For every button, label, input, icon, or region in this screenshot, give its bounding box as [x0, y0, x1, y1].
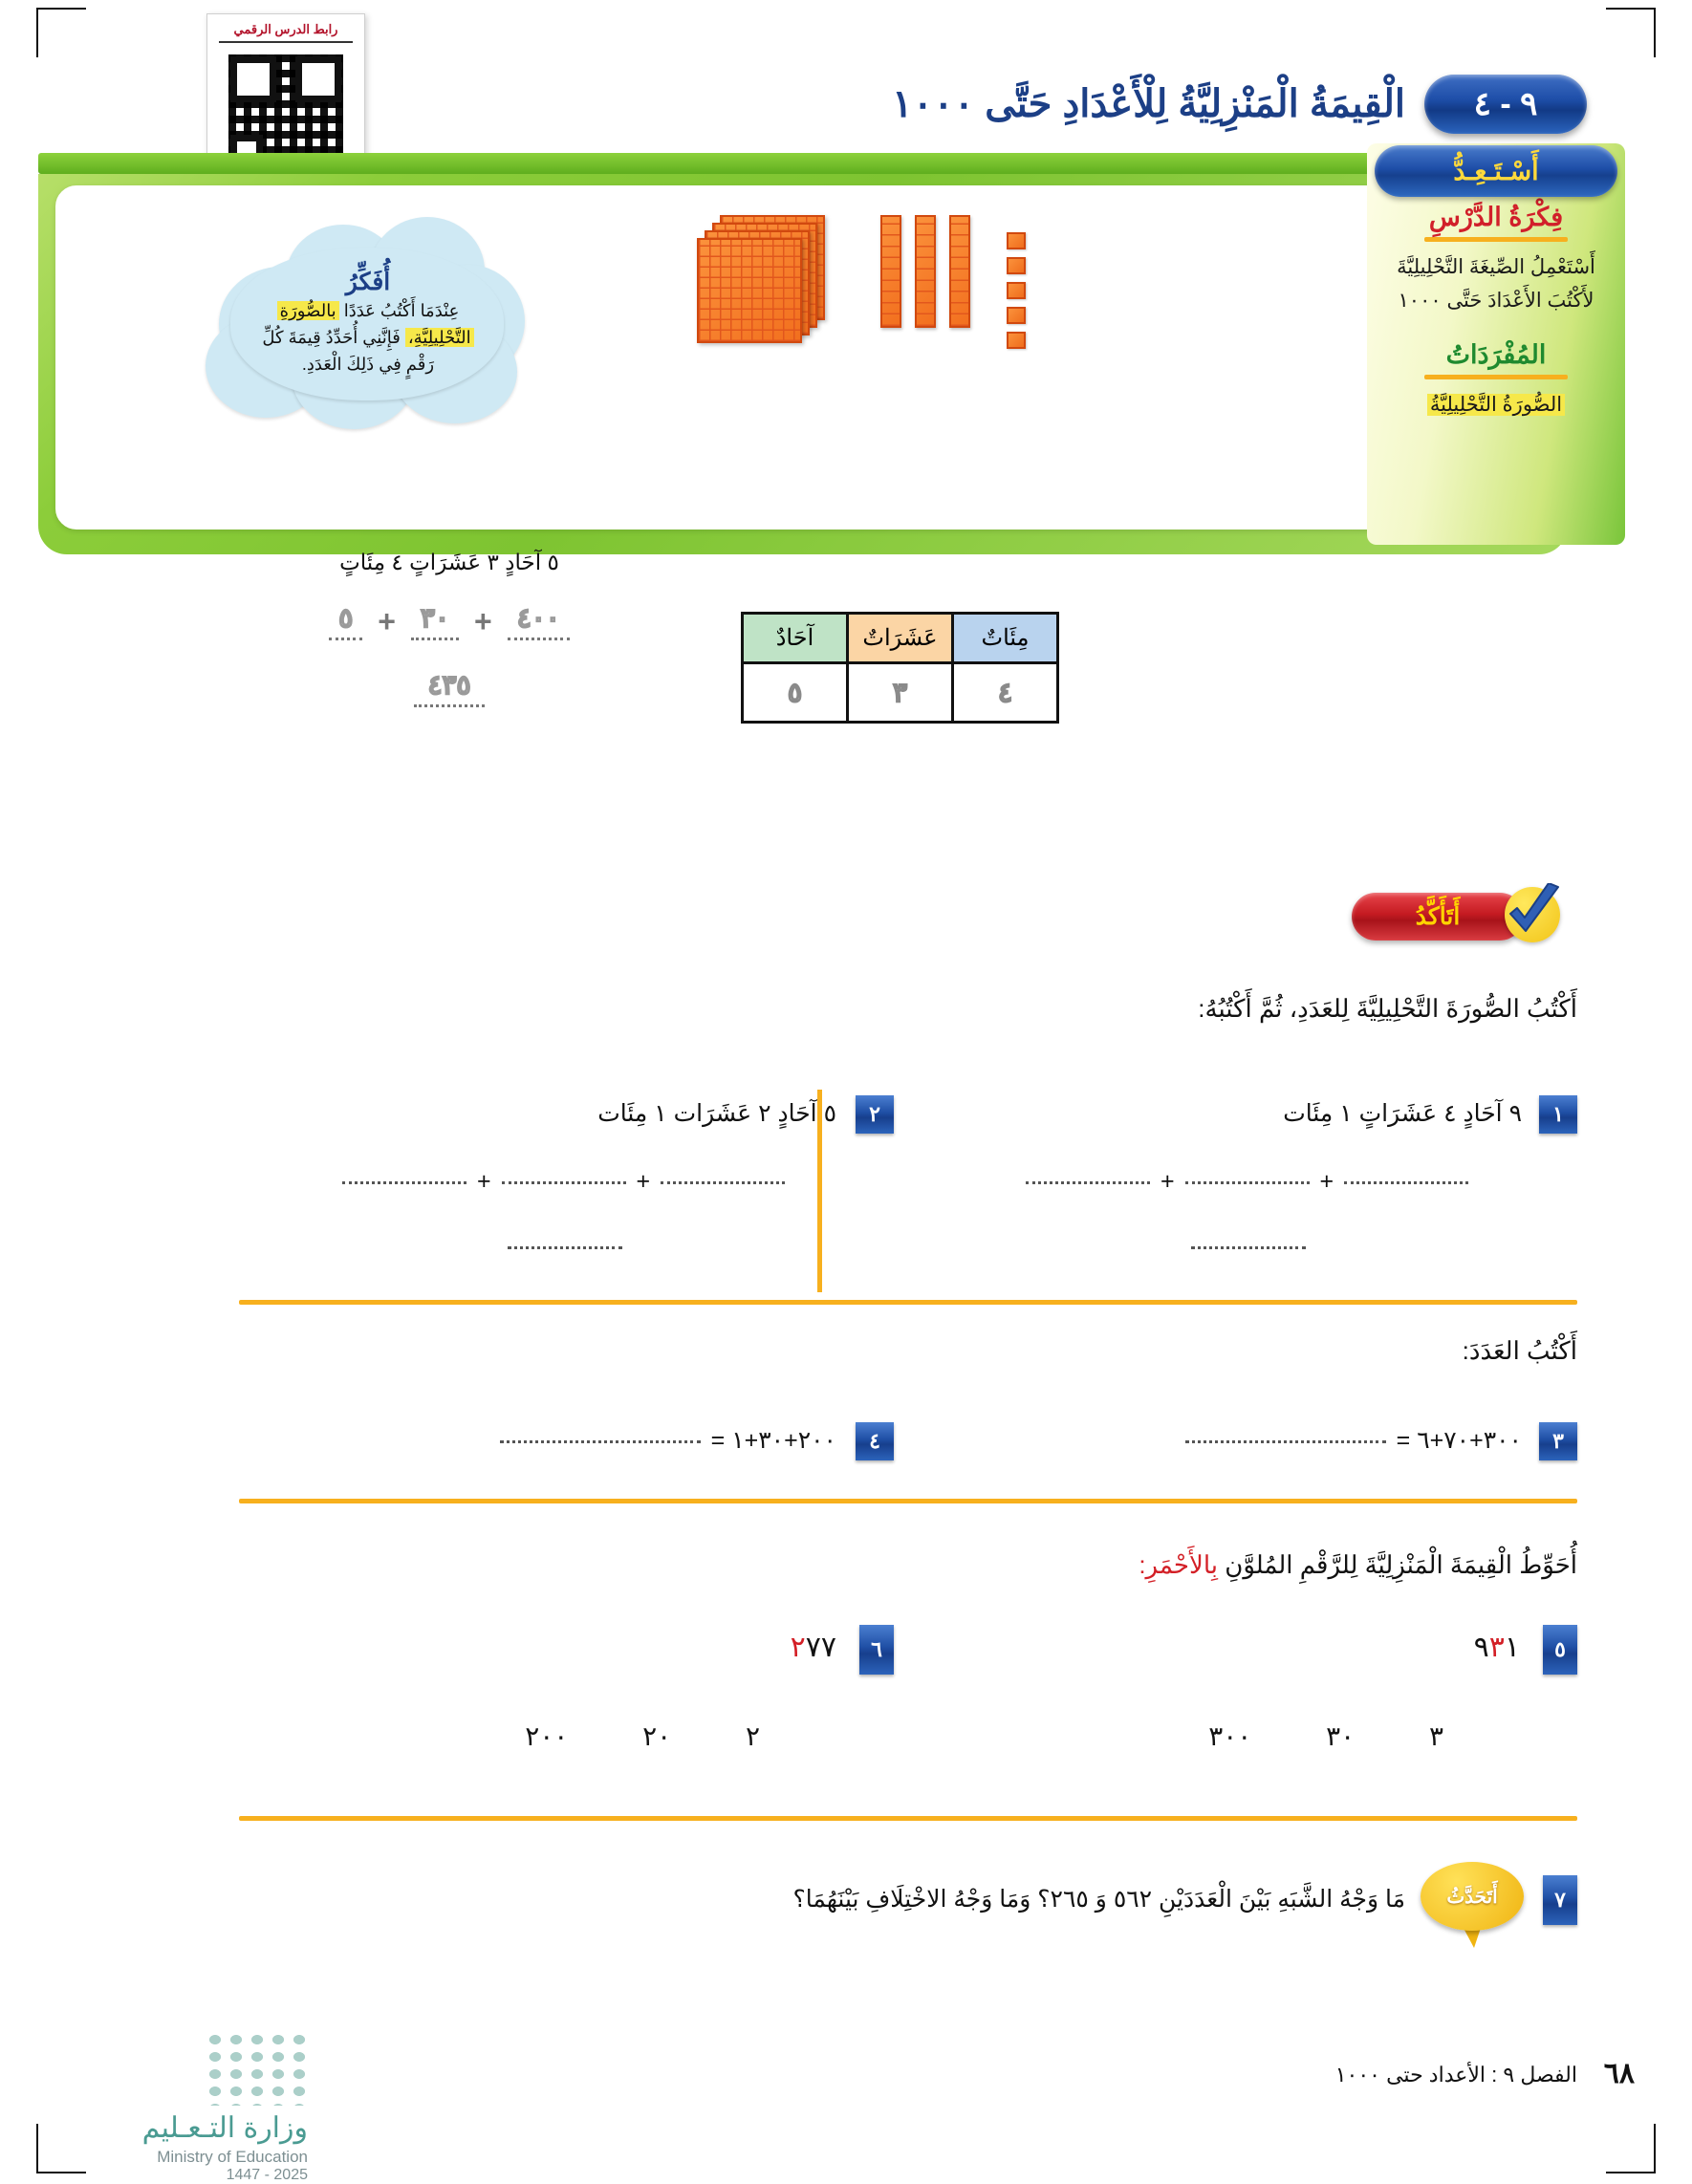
blank-field[interactable]	[342, 1181, 466, 1184]
cloud-line2-b: فَإِنَّنِي أُحَدِّدُ قِيمَةَ كُلِّ	[262, 328, 404, 347]
plus-sign: +	[474, 604, 492, 639]
blank-field[interactable]	[508, 1246, 622, 1249]
talk-bubble-label: أَتَحَدَّثُ	[1421, 1862, 1524, 1931]
item-5-option-2[interactable]: ٣٠	[1326, 1721, 1355, 1751]
item-number-1: ١	[1539, 1095, 1577, 1134]
blank-field[interactable]	[1185, 1181, 1310, 1184]
item-number-6: ٦	[859, 1625, 894, 1675]
vocabulary-term: الصُّورَةُ التَّحْلِيلِيَّةُ	[1427, 394, 1565, 416]
crop-mark-tr-v	[1654, 8, 1656, 57]
tens-rod	[880, 215, 901, 328]
hundreds-flat	[697, 238, 802, 343]
ones-unit	[1007, 257, 1026, 274]
item-1-answer-blank[interactable]	[1187, 1233, 1310, 1261]
header-hundreds: مِئَاتٌ	[953, 614, 1058, 663]
example-answer: ٤٣٥	[414, 669, 484, 707]
verify-badge-label: أَتَأَكَّدُ	[1352, 893, 1524, 941]
item-number-5: ٥	[1543, 1625, 1577, 1675]
item-number-4: ٤	[856, 1422, 894, 1460]
item-6-option-3[interactable]: ٢٠٠	[525, 1721, 568, 1751]
section-divider	[239, 1300, 1577, 1305]
header-ones: آحَادٌ	[743, 614, 848, 663]
section-divider	[239, 1499, 1577, 1503]
vocabulary-term-wrap: الصُّورَةُ التَّحْلِيلِيَّةُ	[1380, 389, 1612, 422]
prepare-sidebar: فِكْرَةُ الدَّرْسِ أَسْتَعْمِلُ الصِّيغَ…	[1367, 143, 1625, 545]
ministry-years: 2025 - 1447	[59, 2167, 308, 2184]
ministry-name-ar: وزارة التـعـليم	[59, 2111, 308, 2145]
think-cloud-body: عِنْدَمَا أَكْتُبُ عَدَدًا بالصُّورَةِ ا…	[262, 298, 473, 378]
item-6-digit-red: ٢	[791, 1632, 806, 1663]
column-divider	[817, 1090, 822, 1292]
crop-mark-br-h	[1606, 2172, 1656, 2173]
instruction-3-text: أُحَوِّطُ الْقِيمَةَ الْمَنْزِلِيَّةَ لِ…	[1218, 1550, 1577, 1579]
blank-field[interactable]	[1185, 1440, 1386, 1443]
lesson-idea-text: أَسْتَعْمِلُ الصِّيغَةَ التَّحْلِيلِيَّة…	[1380, 251, 1612, 317]
example-place-words: ٥ آحَادٍ ٣ عَشَرَاتٍ ٤ مِئَاتٍ	[206, 550, 693, 575]
item-5-digit-pre: ٩	[1474, 1632, 1489, 1663]
item-number-7: ٧	[1543, 1875, 1577, 1925]
item-2-blanks[interactable]: + +	[338, 1168, 789, 1196]
table-row: ٤ ٣ ٥	[743, 663, 1058, 723]
crop-mark-tl-h	[36, 8, 86, 10]
example-sum-hundreds: ٤٠٠	[508, 602, 570, 640]
example-sum-ones: ٥	[329, 602, 362, 640]
lesson-idea-heading: فِكْرَةُ الدَّرْسِ	[1380, 203, 1612, 232]
item-6-number: ٢٧٧	[791, 1631, 836, 1664]
page-title: الْقِيمَةُ الْمَنْزِلِيَّةُ لِلْأَعْدَاد…	[679, 73, 1405, 136]
cloud-line2-highlight: التَّحْلِيلِيَّةِ،	[405, 328, 474, 347]
qr-card-label: رابط الدرس الرقمي	[234, 22, 338, 37]
cloud-line1-a: عِنْدَمَا أَكْتُبُ عَدَدًا	[339, 301, 460, 320]
blank-field[interactable]	[1191, 1246, 1306, 1249]
checkmark-icon	[1503, 883, 1566, 942]
talk-bubble: أَتَحَدَّثُ	[1421, 1862, 1524, 1944]
verify-badge: أَتَأَكَّدُ	[1350, 887, 1570, 946]
item-5-option-3[interactable]: ٣٠٠	[1208, 1721, 1251, 1751]
item-6-option-1[interactable]: ٢	[746, 1721, 760, 1751]
chapter-label: الفصل ٩ : الأعداد حتى ١٠٠٠	[1335, 2063, 1577, 2087]
item-1-text: ٩ آحَادٍ ٤ عَشَرَاتٍ ١ مِئَات	[1283, 1099, 1522, 1128]
crop-mark-tl-v	[36, 8, 38, 57]
ministry-logo: وزارة التـعـليم Ministry of Education 20…	[59, 2031, 308, 2184]
item-4-expression: ٢٠٠+٣٠+١	[731, 1427, 836, 1454]
lesson-number-badge: ٩ - ٤	[1424, 75, 1587, 134]
example-expanded-sum: ٤٠٠ + ٣٠ + ٥	[206, 602, 693, 640]
vocabulary-heading: المُفْرَدَاتُ	[1380, 340, 1612, 370]
instruction-write-expanded: أَكْتُبُ الصُّورَةَ التَّحْلِيلِيَّةَ لِ…	[143, 994, 1577, 1024]
plus-sign: +	[378, 604, 396, 639]
value-tens: ٣	[848, 663, 953, 723]
ones-unit	[1007, 332, 1026, 349]
item-6-option-2[interactable]: ٢٠	[642, 1721, 671, 1751]
table-header-row: مِئَاتٌ عَشَرَاتٌ آحَادٌ	[743, 614, 1058, 663]
think-cloud: أُفَكِّرُ عِنْدَمَا أَكْتُبُ عَدَدًا بال…	[206, 215, 531, 435]
blank-field[interactable]	[500, 1440, 701, 1443]
lesson-idea-rule	[1424, 237, 1568, 242]
item-number-2: ٢	[856, 1095, 894, 1134]
tens-rod	[949, 215, 970, 328]
item-2-answer-blank[interactable]	[504, 1233, 626, 1261]
ministry-name-en: Ministry of Education	[59, 2148, 308, 2167]
textbook-page: رابط الدرس الرقمي www.ien.edu.sa ٩ - ٤ ا…	[0, 0, 1692, 2181]
item-5-digit-red: ٣	[1489, 1632, 1505, 1663]
ones-unit	[1007, 282, 1026, 299]
item-4-row[interactable]: ٢٠٠+٣٠+١ =	[496, 1426, 836, 1455]
crop-mark-br-v	[1654, 2124, 1656, 2173]
item-5-digit-post: ١	[1505, 1632, 1520, 1663]
think-cloud-title: أُفَكِّرُ	[346, 268, 391, 296]
panel-top-bar	[38, 153, 1568, 174]
blank-field[interactable]	[661, 1181, 785, 1184]
item-3-expression: ٣٠٠+٧٠+٦	[1417, 1427, 1522, 1454]
value-ones: ٥	[743, 663, 848, 723]
blank-field[interactable]	[1026, 1181, 1150, 1184]
think-cloud-content: أُفَكِّرُ عِنْدَمَا أَكْتُبُ عَدَدًا بال…	[206, 215, 531, 435]
value-hundreds: ٤	[953, 663, 1058, 723]
item-7-text: مَا وَجْهُ الشَّبَهِ بَيْنَ الْعَدَدَيْن…	[793, 1885, 1405, 1914]
item-2-text: ٥ آحَادٍ ٢ عَشَرَات ١ مِئَات	[597, 1099, 836, 1128]
crop-mark-bl-v	[36, 2124, 38, 2173]
vocabulary-rule	[1424, 375, 1568, 379]
item-5-options[interactable]: ٣ ٣٠ ٣٠٠	[1208, 1720, 1443, 1752]
item-number-3: ٣	[1539, 1422, 1577, 1460]
header-tens: عَشَرَاتٌ	[848, 614, 953, 663]
blank-field[interactable]	[1344, 1181, 1468, 1184]
equals-sign: =	[711, 1427, 726, 1454]
item-5-number: ٩٣١	[1474, 1631, 1520, 1664]
instruction-circle-place-value: أُحَوِّطُ الْقِيمَةَ الْمَنْزِلِيَّةَ لِ…	[143, 1550, 1577, 1580]
prepare-pill: أَسْـتَـعِـدُّ	[1375, 145, 1617, 197]
section-divider	[239, 1816, 1577, 1821]
qr-card-rule	[219, 41, 353, 43]
crop-mark-tr-h	[1606, 8, 1656, 10]
item-1-blanks[interactable]: + +	[1022, 1168, 1472, 1196]
example-answer-row: ٤٣٥	[206, 669, 693, 707]
page-number: ٦٨	[1604, 2057, 1635, 2090]
blank-field[interactable]	[502, 1181, 626, 1184]
item-6-digit-post: ٧٧	[806, 1632, 836, 1663]
ones-unit	[1007, 232, 1026, 249]
instruction-3-red: بِالأَحْمَرِ:	[1139, 1550, 1218, 1579]
base-ten-blocks	[703, 205, 1075, 382]
instruction-write-number: أَكْتُبُ العَدَدَ:	[143, 1336, 1577, 1366]
item-6-options[interactable]: ٢ ٢٠ ٢٠٠	[525, 1720, 760, 1752]
ministry-dots-icon	[205, 2031, 308, 2106]
example-sum-tens: ٣٠	[411, 602, 459, 640]
cloud-line1-highlight: بالصُّورَةِ	[277, 301, 339, 320]
tens-rod	[915, 215, 936, 328]
equals-sign: =	[1397, 1427, 1411, 1454]
place-value-table: مِئَاتٌ عَشَرَاتٌ آحَادٌ ٤ ٣ ٥	[741, 612, 1059, 724]
item-5-option-1[interactable]: ٣	[1429, 1721, 1443, 1751]
ones-unit	[1007, 307, 1026, 324]
cloud-line3: رَقْمٍ فِي ذَلِكَ الْعَدَدِ.	[302, 355, 434, 374]
item-3-row[interactable]: ٣٠٠+٧٠+٦ =	[1182, 1426, 1522, 1455]
